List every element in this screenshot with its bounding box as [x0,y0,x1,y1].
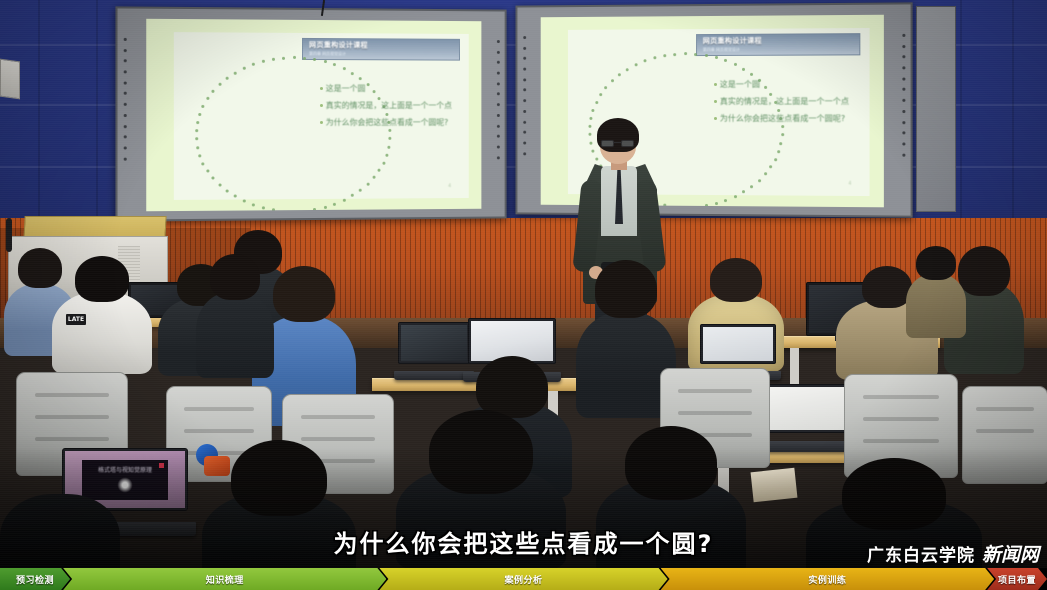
broadcaster-watermark: 广东白云学院 新闻网 [867,540,1039,567]
circle-dot [324,206,327,209]
circle-dot [653,56,656,59]
circle-dot [196,146,199,149]
circle-dot [673,53,676,56]
circle-dot [599,93,602,96]
circle-dot [385,153,388,156]
circle-dot [774,158,777,161]
circle-dot [282,210,285,211]
list-item: 这是一个圆 [714,79,861,91]
progress-segment-2[interactable]: 知识梳理 [63,568,386,590]
circle-dot [750,185,753,188]
list-item: 为什么你会把这些点看成一个圆呢? [714,113,861,125]
circle-dot [618,73,621,76]
slide-bullet-list-left: 这是一个圆 真实的情况是，这上面是一个一个点 为什么你会把这些点看成一个圆呢? [320,83,460,129]
circle-dot [734,195,737,198]
circle-dot [758,179,761,182]
circle-dot [342,199,345,202]
circle-dot [769,165,772,168]
slide-page-number-left: 4 [448,184,451,190]
slide-bullet-text: 真实的情况是，这上面是一个一个点 [720,96,849,108]
bullet-marker-icon [714,100,717,103]
list-item: 真实的情况是，这上面是一个一个点 [714,96,861,108]
glasses-icon [600,140,636,147]
circle-dot [195,137,198,140]
circle-dot [780,142,783,145]
circle-dot [781,133,784,136]
circle-dot [724,199,727,202]
circle-dot [202,162,205,165]
circle-dot [626,68,629,71]
circle-dot [378,169,381,172]
circle-dot [351,194,354,197]
circle-dot [242,200,245,203]
whiteboard-panel-right [916,6,956,212]
bullet-marker-icon [320,104,323,107]
circle-dot [634,63,637,66]
bullet-marker-icon [320,121,323,124]
slide-title-right: 网页重构设计课程 [703,36,860,47]
list-item: 这是一个圆 [320,83,460,95]
circle-dot [313,208,316,211]
circle-dot [694,206,697,208]
slide-bullet-text: 为什么你会把这些点看成一个圆呢? [720,113,845,125]
circle-dot [282,56,285,59]
circle-dot [272,209,275,212]
circle-dot [595,101,598,104]
circle-dot [206,97,209,100]
circle-dot [293,56,296,59]
circle-dot [611,79,614,82]
list-item: 真实的情况是，这上面是一个一个点 [320,100,460,112]
progress-segment-label: 知识梳理 [206,573,244,586]
lecture-broadcast-frame: 网页重构设计课程 第四章 网页视觉设计 这是一个圆 真实的情况是，这上面是一个一… [0,0,1047,590]
circle-dot [742,68,745,71]
circle-dot [673,205,676,207]
circle-dot [226,77,229,80]
bullet-marker-icon [714,83,717,86]
circle-dot [272,58,275,61]
circle-dot [694,53,697,56]
circle-dot [234,195,237,198]
notebook-paper [751,468,798,502]
circle-dot [252,203,255,206]
circle-dot [764,173,767,176]
slide-bullet-text: 这是一个圆 [720,79,760,91]
progress-segment-3[interactable]: 案例分析 [379,568,667,590]
slide-surface-left: 网页重构设计课程 第四章 网页视觉设计 这是一个圆 真实的情况是，这上面是一个一… [146,19,481,211]
progress-segment-4[interactable]: 实例训练 [661,568,995,590]
circle-dot [382,161,385,164]
circle-dot [342,67,345,70]
circle-dot [202,105,205,108]
circle-dot [198,154,201,157]
slide-bullet-text: 为什么你会把这些点看成一个圆呢? [326,117,449,129]
circle-dot [592,109,595,112]
projection-screen-left[interactable]: 网页重构设计课程 第四章 网页视觉设计 这是一个圆 真实的情况是，这上面是一个一… [115,6,506,221]
circle-dot [684,206,687,207]
circle-dot [366,183,369,186]
slide-title-left: 网页重构设计课程 [309,40,459,51]
circle-dot [242,67,245,70]
student: LATE [52,262,152,374]
circle-dot [226,190,229,193]
watermark-institution: 广东白云学院 [867,541,975,566]
circle-dot [303,210,306,212]
circle-dot [195,129,198,132]
slide-content-left: 网页重构设计课程 第四章 网页视觉设计 这是一个圆 真实的情况是，这上面是一个一… [174,32,469,199]
circle-dot [293,210,296,211]
circle-dot [324,60,327,63]
circle-dot [372,176,375,179]
progress-segment-5[interactable]: 项目布置 [987,568,1047,590]
circle-dot [388,145,391,148]
dotted-circle-graphic-left [192,53,392,212]
circle-dot [196,121,199,124]
slide-page-number-right: 4 [848,181,851,187]
circle-dot [742,191,745,194]
circle-dot [734,63,737,66]
circle-dot [705,54,708,57]
podium-microphone [6,218,12,252]
slide-bullet-text: 这是一个圆 [326,83,366,95]
circle-dot [262,60,265,63]
progress-segment-1[interactable]: 预习检测 [0,568,70,590]
bullet-marker-icon [714,117,717,120]
circle-dot [218,183,221,186]
circle-dot [198,113,201,116]
circle-dot [724,59,727,62]
circle-dot [715,56,718,59]
circle-dot [333,203,336,206]
circle-dot [389,129,392,132]
circle-dot [359,77,362,80]
circle-dot [351,72,354,75]
screen-accent-dot [159,463,164,468]
circle-dot [303,57,306,60]
circle-dot [684,52,687,55]
circle-dot [218,83,221,86]
wall-speaker [0,59,20,100]
lesson-progress-bar[interactable]: 预习检测知识梳理案例分析实例训练项目布置 [0,568,1047,590]
circle-dot [212,177,215,180]
circle-dot [359,189,362,192]
circle-dot [206,170,209,173]
list-item: 为什么你会把这些点看成一个圆呢? [320,117,460,129]
progress-segment-label: 实例训练 [808,573,846,586]
circle-dot [252,63,255,66]
circle-dot [333,63,336,66]
student [196,260,274,378]
circle-dot [715,202,718,205]
bullet-marker-icon [320,87,323,90]
student [906,248,966,338]
progress-segment-label: 项目布置 [998,573,1036,586]
circle-dot [781,125,784,128]
student-laptop[interactable] [760,384,856,452]
hoodie-label: LATE [66,314,86,325]
circle-dot [777,150,780,153]
progress-segment-label: 预习检测 [16,573,54,586]
circle-dot [705,204,708,207]
circle-dot [643,59,646,62]
circle-dot [605,86,608,89]
circle-dot [234,72,237,75]
circle-dot [389,137,392,140]
watermark-channel: 新闻网 [982,540,1039,567]
circle-dot [313,58,316,61]
progress-segment-label: 案例分析 [504,573,542,586]
slide-bullet-text: 真实的情况是，这上面是一个一个点 [326,100,452,112]
circle-dot [663,54,666,57]
circle-dot [262,206,265,209]
circle-dot [750,73,753,76]
circle-dot [212,90,215,93]
slide-bullet-list-right: 这是一个圆 真实的情况是，这上面是一个一个点 为什么你会把这些点看成一个圆呢? [714,79,861,126]
